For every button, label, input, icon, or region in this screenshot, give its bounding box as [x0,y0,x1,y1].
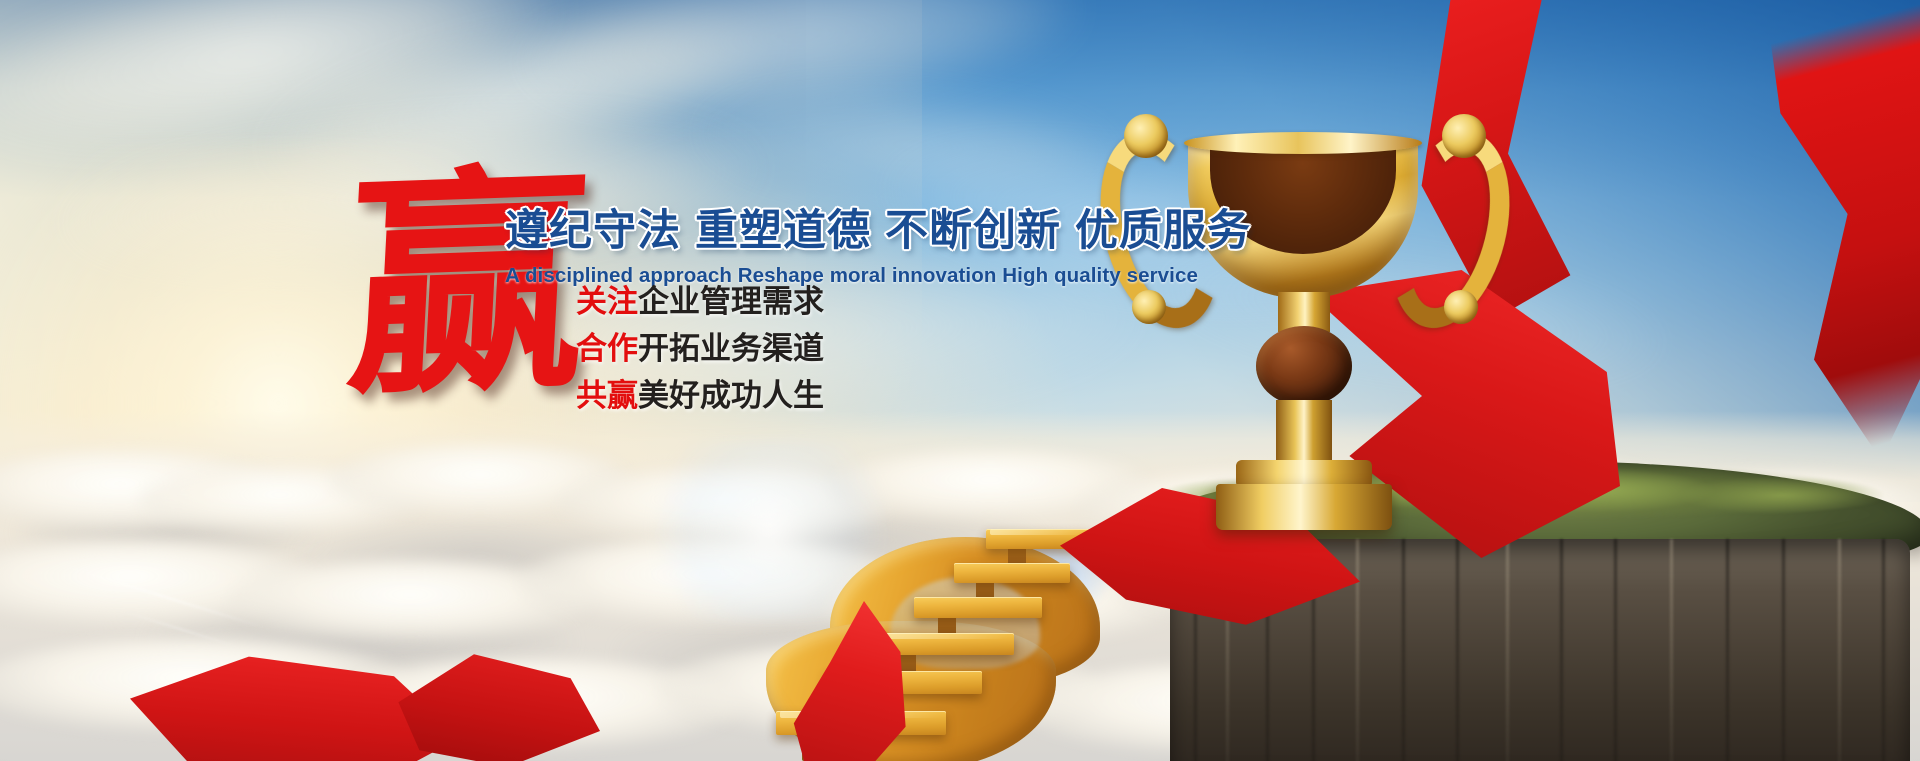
rock-striation [1726,539,1729,761]
trophy-base [1216,484,1392,530]
stair-tread [914,597,1042,618]
slogan-item-3: 共赢美好成功人生 [576,373,824,420]
trophy-scroll-ornament [1442,114,1486,158]
stair-highlight [876,633,1008,639]
trophy-stem [1276,400,1332,466]
slogan-item-2: 合作开拓业务渠道 [576,326,824,373]
headline-segment-1: 遵纪守法 [505,206,681,256]
stair-tread [954,563,1070,583]
headline-block: 遵纪守法重塑道德不断创新优质服务 A disciplined approach … [505,196,1125,288]
rock-striation [1838,539,1841,761]
rock-striation [1670,539,1673,761]
rock-striation [1882,539,1885,761]
promotional-banner: 赢 遵纪守法重塑道德不断创新优质服务 A disciplined approac… [0,0,1920,761]
trophy-scroll-ornament [1132,290,1166,324]
headline-chinese: 遵纪守法重塑道德不断创新优质服务 [505,196,1125,258]
gold-trophy [1110,100,1500,520]
slogan-2-rest: 开拓业务渠道 [638,331,824,367]
rock-striation [1456,539,1459,761]
slogan-list: 关注企业管理需求 合作开拓业务渠道 共赢美好成功人生 [576,279,824,420]
stair-highlight [990,529,1086,535]
rock-striation [1614,539,1617,761]
trophy-cup-rim [1184,132,1422,154]
rock-striation [1402,539,1405,761]
slogan-1-rest: 企业管理需求 [638,284,824,320]
slogan-3-highlight: 共赢 [576,378,638,414]
rock-striation [1560,539,1563,761]
headline-segment-2: 重塑道德 [695,206,871,256]
trophy-scroll-ornament [1124,114,1168,158]
slogan-3-rest: 美好成功人生 [638,378,824,414]
trophy-knob [1256,326,1352,406]
headline-segment-3: 不断创新 [885,206,1061,256]
rock-striation [1506,539,1509,761]
slogan-1-highlight: 关注 [576,284,638,320]
slogan-item-1: 关注企业管理需求 [576,279,824,326]
slogan-2-highlight: 合作 [576,331,638,367]
headline-segment-4: 优质服务 [1075,206,1251,256]
trophy-scroll-ornament [1444,290,1478,324]
rock-striation [1356,539,1359,761]
rock-striation [1782,539,1785,761]
